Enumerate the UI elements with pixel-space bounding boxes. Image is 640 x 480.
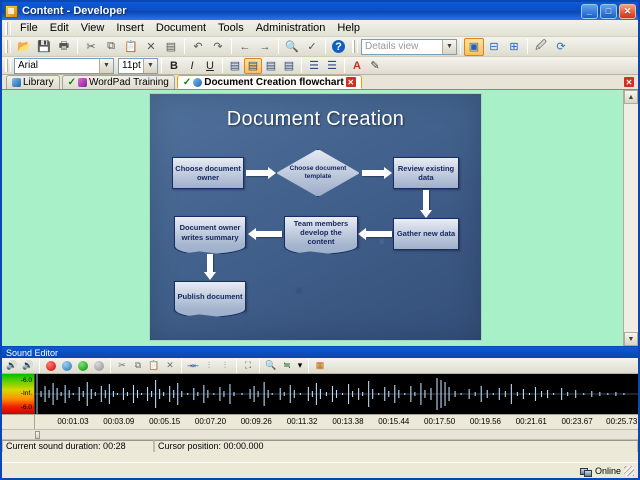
flow-arrow-n4-n5: [358, 227, 392, 241]
levels-icon[interactable]: ≒: [280, 359, 294, 373]
ruler-tick: 00:15.44: [378, 417, 409, 426]
flow-arrow-n1-n2: [246, 166, 276, 180]
toolbar-separator-2: [184, 39, 185, 54]
tab-close-icon[interactable]: ✕: [346, 77, 356, 87]
cursor-position-status: Cursor position: 00:00.000: [154, 440, 638, 453]
ruler-tick: 00:17.50: [424, 417, 455, 426]
flow-node-gather-new-data[interactable]: Gather new data: [393, 218, 459, 250]
font-size-combo[interactable]: 11pt ▼: [118, 58, 158, 74]
waveform-display[interactable]: [35, 374, 638, 414]
undo-icon[interactable]: ↶: [188, 38, 208, 56]
sound-separator-1: [39, 358, 40, 373]
globe-icon: [193, 78, 202, 87]
flow-arrow-n6-n7: [202, 254, 218, 280]
append-sound-icon[interactable]: 🔊: [21, 359, 35, 373]
waveform-horizontal-scrollbar[interactable]: [2, 429, 638, 439]
flow-node-publish-document[interactable]: Publish document: [174, 281, 246, 311]
dropdown-icon[interactable]: ▾: [296, 359, 304, 373]
menu-tools[interactable]: Tools: [212, 21, 250, 35]
record-append-icon[interactable]: [60, 359, 74, 373]
flow-node-label: Choose document template: [276, 165, 360, 181]
format-separator-4: [344, 58, 345, 73]
slide-title: Document Creation: [150, 108, 481, 131]
format-separator-2: [222, 58, 223, 73]
back-icon[interactable]: ←: [235, 38, 255, 56]
print-icon[interactable]: 🖶: [54, 38, 74, 56]
minimize-button[interactable]: _: [581, 4, 598, 19]
ruler-tick: 00:19.56: [470, 417, 501, 426]
align-justify-button[interactable]: ▤: [280, 58, 298, 74]
document-app-icon: [5, 5, 18, 18]
spellcheck-icon[interactable]: ✓: [302, 38, 322, 56]
wordpad-icon: [78, 78, 87, 87]
close-document-button[interactable]: ✕: [624, 77, 634, 87]
copy-icon[interactable]: ⧉: [101, 38, 121, 56]
forward-icon[interactable]: →: [255, 38, 275, 56]
ruler-tick: 00:03.09: [103, 417, 134, 426]
cut-icon[interactable]: ✂: [115, 359, 129, 373]
content-area: Document Creation Choose document owner …: [2, 90, 638, 346]
font-family-value: Arial: [18, 60, 38, 71]
vu-label-top: -6.0: [2, 377, 32, 384]
flow-arrow-n2-n3: [362, 166, 392, 180]
play-icon[interactable]: [76, 359, 90, 373]
font-family-combo[interactable]: Arial ▼: [14, 58, 114, 74]
sound-editor-title: Sound Editor: [2, 347, 638, 358]
toolbar-separator-4: [278, 39, 279, 54]
timeline-ruler[interactable]: 00:01.03 00:03.09 00:05.15 00:07.20 00:0…: [2, 414, 638, 429]
menu-insert[interactable]: Insert: [110, 21, 150, 35]
view-mode-value: Details view: [365, 41, 418, 52]
edit-properties-icon[interactable]: 🖉: [531, 38, 551, 56]
bold-button[interactable]: B: [165, 58, 183, 74]
ruler-tick: 00:05.15: [149, 417, 180, 426]
ruler-tick: 00:11.32: [287, 417, 318, 426]
format-toolbar: Arial ▼ 11pt ▼ B I U ▤ ▤ ▤ ▤ ☰ ☰ A ✎: [2, 57, 638, 75]
menu-view[interactable]: View: [75, 21, 111, 35]
paste-icon[interactable]: 📋: [121, 38, 141, 56]
refresh-icon[interactable]: ⟳: [551, 38, 571, 56]
flow-node-team-members-develop-content[interactable]: Team members develop the content: [284, 216, 358, 248]
ruler-tick: 00:13.38: [332, 417, 363, 426]
flow-node-document-owner-writes-summary[interactable]: Document owner writes summary: [174, 216, 246, 248]
content-vertical-scrollbar[interactable]: ▲ ▼: [623, 90, 638, 346]
view-mode-combo[interactable]: Details view ▼: [361, 39, 457, 55]
cut-icon[interactable]: ✂: [81, 38, 101, 56]
chevron-down-icon[interactable]: ▼: [99, 59, 113, 73]
copy-icon[interactable]: ⧉: [131, 359, 145, 373]
marker-icon[interactable]: ⫶: [202, 359, 216, 373]
toolbar-grip[interactable]: [5, 40, 11, 53]
sound-status-bar: Current sound duration: 00:28 Cursor pos…: [2, 439, 638, 452]
check-icon: ✓: [183, 77, 191, 88]
sound-separator-5: [259, 358, 260, 373]
flow-node-choose-document-template[interactable]: Choose document template: [276, 149, 360, 197]
flowchart-slide: Document Creation Choose document owner …: [149, 93, 482, 341]
library-icon: [12, 78, 21, 87]
ruler-tick: 00:01.03: [57, 417, 88, 426]
check-icon: ✓: [68, 77, 76, 88]
font-color-button[interactable]: A: [348, 58, 366, 74]
trim-icon[interactable]: ⇥⇤: [186, 359, 200, 373]
sound-separator-6: [308, 358, 309, 373]
vu-meter: -6.0 -Inf. -6.0: [2, 374, 35, 414]
view-combo-grip[interactable]: [352, 40, 358, 53]
tab-library[interactable]: Library: [6, 75, 60, 89]
format-separator-1: [161, 58, 162, 73]
align-left-button[interactable]: ▤: [226, 58, 244, 74]
delete-icon[interactable]: ✕: [163, 359, 177, 373]
sound-editor-toolbar: 🔊 🔊 ✂ ⧉ 📋 ✕ ⇥⇤ ⫶ ⫶ ⛶ 🔍 ≒ ▾ ▦: [2, 358, 638, 374]
tab-label: Library: [23, 77, 54, 88]
document-tab-strip: Library ✓ WordPad Training ✓ Document Cr…: [2, 75, 638, 90]
italic-button[interactable]: I: [183, 58, 201, 74]
sound-panel-filler: [2, 452, 638, 462]
menu-administration[interactable]: Administration: [250, 21, 332, 35]
align-center-button[interactable]: ▤: [244, 58, 262, 74]
flow-node-choose-document-owner[interactable]: Choose document owner: [172, 157, 244, 189]
horizontal-split-view-icon[interactable]: ⊟: [484, 38, 504, 56]
select-all-icon[interactable]: ⛶: [241, 359, 255, 373]
application-window: Content - Developer _ □ ✕ File Edit View…: [0, 0, 640, 480]
properties-icon[interactable]: ▦: [313, 359, 327, 373]
format-separator-3: [301, 58, 302, 73]
open-icon[interactable]: 📂: [14, 38, 34, 56]
delete-icon[interactable]: ✕: [141, 38, 161, 56]
ruler-tick: 00:23.67: [562, 417, 593, 426]
insert-sound-icon[interactable]: 🔊: [5, 359, 19, 373]
redo-icon[interactable]: ↷: [208, 38, 228, 56]
ruler-marks: 00:01.03 00:03.09 00:05.15 00:07.20 00:0…: [35, 415, 638, 429]
toolbar-separator-3: [231, 39, 232, 54]
chevron-down-icon[interactable]: ▼: [143, 59, 157, 73]
ruler-tick: 00:07.20: [195, 417, 226, 426]
tab-wordpad-training[interactable]: ✓ WordPad Training: [62, 75, 175, 89]
search-icon[interactable]: 🔍: [282, 38, 302, 56]
resize-grip[interactable]: [624, 466, 634, 476]
align-right-button[interactable]: ▤: [262, 58, 280, 74]
toolbar-separator-5: [325, 39, 326, 54]
sound-separator-3: [181, 358, 182, 373]
menu-file[interactable]: File: [14, 21, 44, 35]
flow-arrow-n3-n4: [418, 190, 434, 218]
maximize-button[interactable]: □: [600, 4, 617, 19]
vu-label-middle: -Inf.: [2, 390, 32, 397]
chevron-down-icon[interactable]: ▼: [442, 40, 456, 54]
menu-help[interactable]: Help: [331, 21, 366, 35]
sound-separator-4: [236, 358, 237, 373]
tab-label: Document Creation flowchart: [204, 77, 343, 88]
single-pane-view-icon[interactable]: ▣: [464, 38, 484, 56]
window-title: Content - Developer: [22, 5, 581, 17]
toolbar-separator-1: [77, 39, 78, 54]
menu-grip[interactable]: [5, 22, 11, 35]
properties-icon[interactable]: ▤: [161, 38, 181, 56]
help-icon[interactable]: ?: [332, 40, 345, 53]
ruler-lead: [2, 415, 35, 429]
scroll-up-button[interactable]: ▲: [624, 90, 638, 104]
paste-icon[interactable]: 📋: [147, 359, 161, 373]
tab-document-creation-flowchart[interactable]: ✓ Document Creation flowchart ✕: [177, 75, 362, 89]
highlight-button[interactable]: ✎: [366, 58, 384, 74]
waveform-graphic: [35, 374, 638, 414]
toolbar-separator-6: [460, 39, 461, 54]
network-icon: [580, 466, 592, 476]
scroll-down-button[interactable]: ▼: [624, 332, 638, 346]
waveform-row: -6.0 -Inf. -6.0: [2, 374, 638, 414]
close-button[interactable]: ✕: [619, 4, 636, 19]
sound-editor-panel: Sound Editor 🔊 🔊 ✂ ⧉ 📋 ✕ ⇥⇤ ⫶ ⫶ ⛶ 🔍 ≒ ▾: [2, 346, 638, 462]
sound-duration-status: Current sound duration: 00:28: [2, 440, 154, 453]
bullet-list-button[interactable]: ☰: [305, 58, 323, 74]
underline-button[interactable]: U: [201, 58, 219, 74]
main-toolbar: 📂 💾 🖶 ✂ ⧉ 📋 ✕ ▤ ↶ ↷ ← → 🔍 ✓ ? Details vi…: [2, 37, 638, 57]
flow-arrow-n5-n6: [248, 227, 282, 241]
application-status-bar: Online: [2, 462, 638, 478]
online-status-label: Online: [595, 466, 621, 476]
toolbar-separator-7: [527, 39, 528, 54]
stop-icon[interactable]: [92, 359, 106, 373]
record-icon[interactable]: [44, 359, 58, 373]
title-bar: Content - Developer _ □ ✕: [2, 2, 638, 20]
format-toolbar-grip[interactable]: [5, 59, 11, 72]
vu-label-bottom: -6.0: [2, 404, 32, 411]
menu-bar: File Edit View Insert Document Tools Adm…: [2, 20, 638, 37]
ruler-tick: 00:25.73: [606, 417, 637, 426]
vertical-split-view-icon[interactable]: ⊞: [504, 38, 524, 56]
zoom-icon[interactable]: 🔍: [264, 359, 278, 373]
scroll-thumb[interactable]: [35, 431, 40, 439]
save-icon[interactable]: 💾: [34, 38, 54, 56]
menu-document[interactable]: Document: [150, 21, 212, 35]
marker2-icon[interactable]: ⫶: [218, 359, 232, 373]
slide-canvas[interactable]: Document Creation Choose document owner …: [2, 90, 623, 346]
number-list-button[interactable]: ☰: [323, 58, 341, 74]
tab-label: WordPad Training: [89, 77, 169, 88]
menu-edit[interactable]: Edit: [44, 21, 75, 35]
flow-node-review-existing-data[interactable]: Review existing data: [393, 157, 459, 189]
font-size-value: 11pt: [122, 60, 141, 71]
ruler-tick: 00:09.26: [241, 417, 272, 426]
ruler-tick: 00:21.61: [516, 417, 547, 426]
window-controls: _ □ ✕: [581, 4, 636, 19]
sound-separator-2: [110, 358, 111, 373]
